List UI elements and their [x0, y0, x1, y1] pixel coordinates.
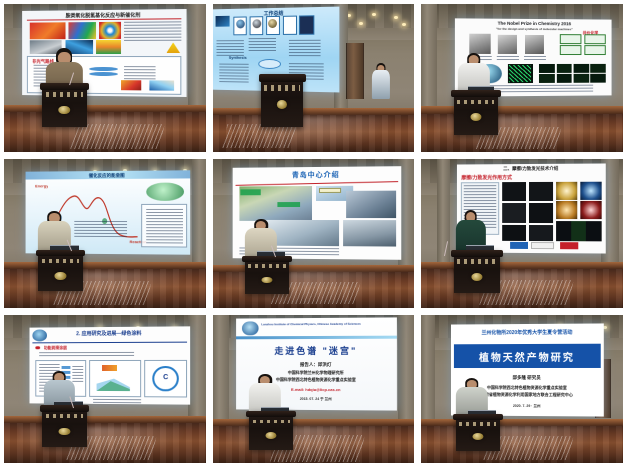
podium-emblem — [266, 432, 277, 439]
podium-inscription — [46, 92, 83, 96]
wall-pillar — [213, 315, 229, 425]
wall-pillar — [398, 315, 414, 425]
photo-6: 二、摩擦/力致发光技术介绍 摩擦/力致发光作用方式 — [421, 159, 623, 307]
institute-logo — [242, 321, 258, 336]
wall-pillar — [421, 315, 435, 425]
photo-7: 2. 应用研究及进展—绿色涂料 功能润滑涂层 — [4, 315, 206, 463]
podium-emblem — [472, 433, 483, 440]
photo-cell-7[interactable]: 2. 应用研究及进展—绿色涂料 功能润滑涂层 — [4, 315, 206, 463]
org-header: Lanzhou Institute of Chemical Physics, C… — [261, 321, 360, 326]
photo-3: The Nobel Prize in Chemistry 2016 "for t… — [421, 4, 623, 152]
slide-image — [346, 190, 396, 218]
slide-image — [96, 40, 121, 54]
slide-title: 走进色谱 "迷宫" — [236, 343, 397, 356]
hall-door — [346, 43, 364, 99]
podium-inscription — [46, 414, 83, 418]
podium-emblem — [59, 106, 71, 114]
slide-image — [99, 22, 120, 39]
podium-inscription — [248, 264, 285, 268]
podium-9 — [456, 414, 500, 451]
slide-image — [30, 22, 65, 39]
podium-inscription — [457, 259, 496, 263]
podium-inscription — [253, 420, 290, 424]
slide-title: The Nobel Prize in Chemistry 2016 — [455, 20, 612, 26]
slide-title: 青岛中心介绍 — [232, 169, 401, 180]
wall-pillar — [192, 159, 206, 269]
podium-emblem — [55, 272, 66, 279]
slide-image — [343, 220, 397, 246]
podium-emblem — [471, 273, 482, 281]
podium-emblem — [262, 277, 273, 284]
photo-cell-6[interactable]: 二、摩擦/力致发光技术介绍 摩擦/力致发光作用方式 — [421, 159, 623, 307]
podium-2 — [261, 74, 303, 127]
photo-cell-9[interactable]: 兰州化物所2020年优秀大学生夏令营活动 植物天然产物研究 邸多隆 研究员 中国… — [421, 315, 623, 463]
podium-8 — [249, 411, 293, 450]
photo-8: Lanzhou Institute of Chemical Physics, C… — [213, 315, 415, 463]
photo-9: 兰州化物所2020年优秀大学生夏令营活动 植物天然产物研究 邸多隆 研究员 中国… — [421, 315, 623, 463]
podium-7 — [42, 405, 86, 447]
hazard-triangle-icon — [166, 42, 180, 53]
podium-inscription — [42, 259, 79, 263]
podium-6 — [454, 250, 500, 293]
photo-contact-sheet: 胺类氧化脱氢基化反应与新催化剂 非光气路线 — [0, 0, 630, 472]
wall-pillar — [421, 4, 437, 114]
podium-inscription — [459, 422, 496, 426]
wall-pillar — [188, 4, 206, 114]
photo-cell-4[interactable]: 催化反应的能垒图 Energy Reaction — [4, 159, 206, 307]
slide-title: 二、摩擦/力致发光技术介绍 — [457, 165, 606, 172]
slide-title: 植物天然产物研究 — [451, 348, 604, 363]
photo-cell-5[interactable]: 青岛中心介绍 — [213, 159, 415, 307]
photo-5: 青岛中心介绍 — [213, 159, 415, 307]
photo-1: 胺类氧化脱氢基化反应与新催化剂 非光气路线 — [4, 4, 206, 152]
slide-banner: 兰州化物所2020年优秀大学生夏令营活动 — [451, 328, 604, 336]
speaker-2 — [372, 63, 390, 99]
slide-bullet: 功能润滑涂层 — [44, 344, 67, 350]
slide-subtitle: Synthesis — [228, 55, 246, 60]
photo-cell-1[interactable]: 胺类氧化脱氢基化反应与新催化剂 非光气路线 — [4, 4, 206, 152]
podium-5 — [245, 256, 289, 295]
podium-inscription — [264, 85, 300, 90]
podium-inscription — [457, 100, 494, 104]
slide-title: 2. 应用研究及进展—绿色涂料 — [30, 329, 191, 337]
presenter-label: 报告人：邱洪灯 — [236, 362, 397, 368]
photo-cell-2[interactable]: 工作总结 Synthesis — [213, 4, 415, 152]
podium-emblem — [470, 113, 481, 121]
slide-image — [69, 22, 97, 39]
podium-3 — [454, 90, 498, 134]
podium-4 — [38, 250, 82, 292]
podium-emblem — [59, 428, 70, 435]
photo-2: 工作总结 Synthesis — [213, 4, 415, 152]
podium-1 — [42, 83, 86, 127]
photo-4: 催化反应的能垒图 Energy Reaction — [4, 159, 206, 307]
photo-cell-8[interactable]: Lanzhou Institute of Chemical Physics, C… — [213, 315, 415, 463]
slide-subtitle: 摩擦/力致发光作用方式 — [461, 174, 512, 181]
photo-cell-3[interactable]: The Nobel Prize in Chemistry 2016 "for t… — [421, 4, 623, 152]
podium-emblem — [277, 100, 287, 109]
